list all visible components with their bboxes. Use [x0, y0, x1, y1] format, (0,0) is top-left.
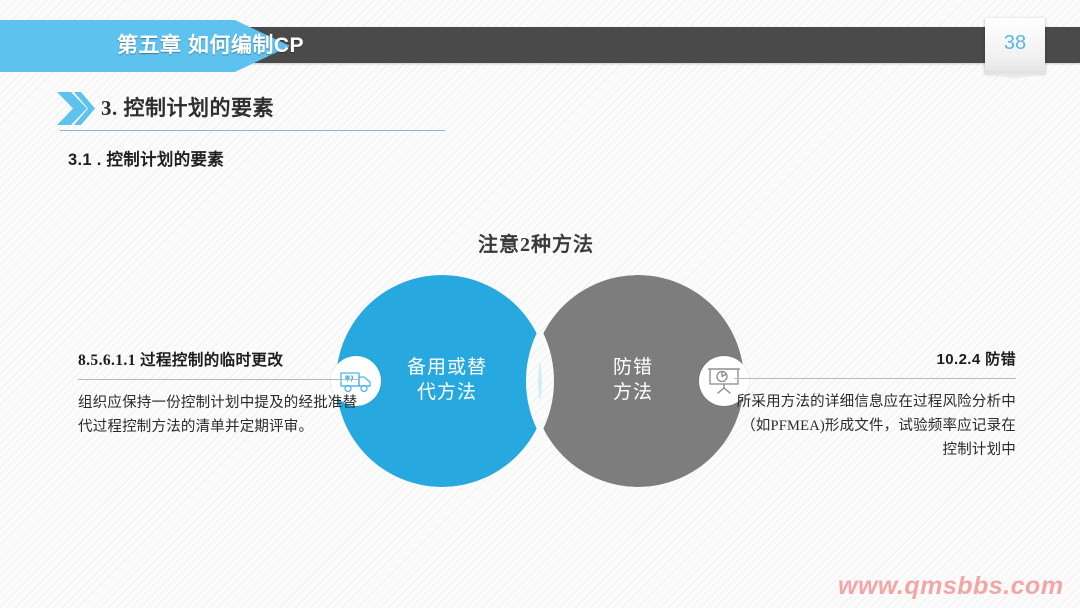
left-block-heading: 8.5.6.1.1 过程控制的临时更改	[78, 348, 360, 370]
venn-right-label-line2: 方法	[548, 380, 718, 405]
venn-title: 注意2种方法	[0, 228, 1080, 257]
section-divider	[60, 130, 445, 131]
page-subtitle: 3.1 . 控制计划的要素	[68, 146, 224, 170]
slide-canvas: 第五章 如何编制CP 38 3. 控制计划的要素 3.1 . 控制计划的要素 注…	[0, 0, 1080, 608]
right-block-heading: 10.2.4 防错	[734, 348, 1016, 369]
site-watermark: www.qmsbbs.com	[838, 572, 1064, 601]
chapter-title: 第五章 如何编制CP	[117, 30, 304, 62]
section-chevron-icon	[57, 92, 95, 125]
venn-left-label-line2: 代方法	[362, 380, 532, 405]
right-text-block: 10.2.4 防错 所采用方法的详细信息应在过程风险分析中（如PFMEA)形成文…	[734, 348, 1016, 462]
venn-right-label: 防错 方法	[548, 355, 718, 405]
left-block-body: 组织应保持一份控制计划中提及的经批准替代过程控制方法的清单并定期评审。	[78, 391, 360, 439]
venn-left-label-line1: 备用或替	[362, 355, 532, 380]
right-block-body: 所采用方法的详细信息应在过程风险分析中（如PFMEA)形成文件，试验频率应记录在…	[734, 390, 1016, 462]
venn-title-text: 注意2种方法	[478, 234, 594, 256]
venn-right-label-line1: 防错	[548, 355, 718, 380]
venn-diagram: 备用或替 代方法 防错 方法	[336, 275, 744, 487]
venn-left-label: 备用或替 代方法	[362, 355, 532, 405]
right-block-divider	[734, 378, 1016, 379]
page-title: 3. 控制计划的要素	[101, 92, 274, 122]
left-block-divider	[78, 379, 360, 380]
page-number-badge: 38	[985, 18, 1045, 73]
left-text-block: 8.5.6.1.1 过程控制的临时更改 组织应保持一份控制计划中提及的经批准替代…	[78, 348, 360, 439]
